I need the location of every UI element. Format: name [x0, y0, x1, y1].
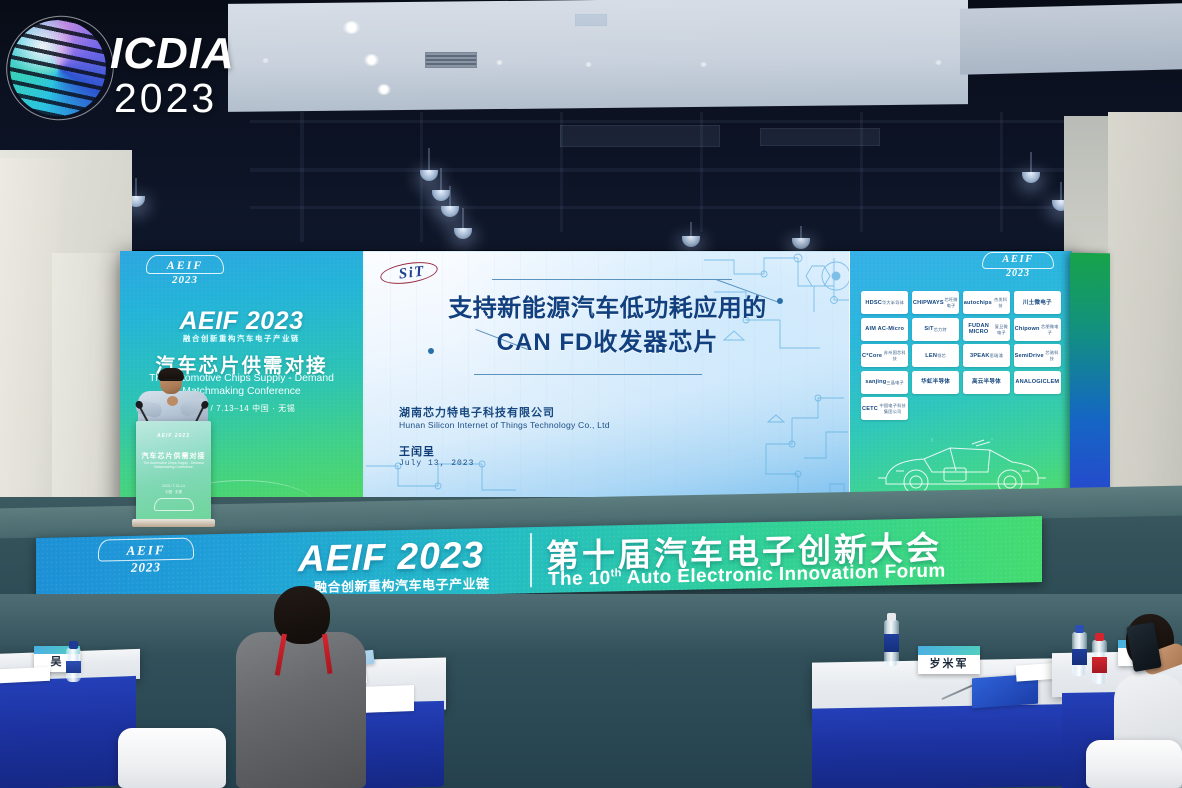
conference-photo-scene: AEIF 2023 AEIF 2023 融合创新重构汽车电子产业链 汽车芯片供需… — [0, 0, 1182, 788]
stage-side-panel — [1070, 253, 1110, 522]
circuit-trace-decor-2 — [748, 392, 850, 506]
slide-title-line2: CAN FD收发器芯片 — [364, 326, 850, 360]
sponsor-logo-name: ANALOGICLEM — [1015, 379, 1059, 385]
ceiling-panel — [560, 125, 720, 147]
pendant-light — [1030, 152, 1032, 174]
sponsor-logo-cell: 华虹半导体 — [912, 371, 959, 394]
aeif-logo-text: AEIF — [98, 543, 194, 558]
stage-led-screen: AEIF 2023 AEIF 2023 融合创新重构汽车电子产业链 汽车芯片供需… — [120, 251, 1072, 514]
paper-sheet — [0, 667, 50, 684]
sponsor-logo-name: 川土微电子 — [1023, 300, 1052, 306]
sponsor-logo-cell: FUDAN MICRO复旦微电子 — [963, 318, 1010, 341]
sponsor-logo-name: 3PEAK — [970, 353, 990, 359]
sponsor-logo-subtitle: 芯朋微电子 — [1040, 324, 1060, 336]
sponsor-logo-cell: C*Core苏州国芯科技 — [861, 344, 908, 367]
ceiling-soffit-right — [960, 3, 1182, 74]
sponsor-logo-cell: 3PEAK思瑞浦 — [963, 344, 1010, 367]
downlight — [496, 60, 503, 65]
sponsor-logo-cell: 川土微电子 — [1014, 291, 1061, 314]
bottle-cap — [1075, 625, 1084, 633]
sponsor-logo-name: AIM AC-Micro — [865, 326, 904, 332]
sponsor-logo-subtitle: 思瑞浦 — [990, 353, 1003, 359]
chair-center — [118, 728, 226, 788]
slide-decor-line-bottom — [474, 374, 702, 375]
sponsor-logo-grid: HDSC华大半导体CHIPWAYS芯旺微电子autochips杰发科技川土微电子… — [861, 291, 1061, 420]
sponsor-logo-panel: AEIF 2023 HDSC华大半导体CHIPWAYS芯旺微电子autochip… — [850, 251, 1072, 514]
sponsor-logo-name: CHIPWAYS — [913, 300, 944, 306]
sponsor-logo-cell: SemiDrive芯驰科技 — [1014, 344, 1061, 367]
sponsor-logo-name: autochips — [964, 300, 992, 306]
sponsor-logo-subtitle: 华大半导体 — [882, 300, 904, 306]
slide-company-en: Hunan Silicon Internet of Things Technol… — [399, 420, 610, 430]
car-outline-icon — [154, 498, 194, 511]
bottle-cap — [69, 641, 78, 649]
downlight — [585, 62, 592, 67]
sponsor-logo-subtitle: 领芯 — [937, 353, 946, 359]
ceiling-beam — [1000, 112, 1003, 232]
attendee-center — [236, 586, 366, 788]
sponsor-logo-subtitle: 芯旺微电子 — [944, 297, 958, 309]
globe-ring-icon — [0, 2, 127, 134]
pendant-light — [690, 222, 692, 238]
en-prefix: The 10 — [548, 568, 611, 590]
banner-divider — [530, 533, 532, 587]
aeif-logo-text: AEIF — [146, 259, 224, 271]
aeif-logo-left: AEIF 2023 — [146, 259, 224, 286]
pendant-light — [135, 178, 137, 198]
sponsor-logo-cell: CHIPWAYS芯旺微电子 — [912, 291, 959, 314]
floor-reflection — [0, 594, 1182, 654]
sponsor-logo-cell: 高云半导体 — [963, 371, 1010, 394]
table-skirt-left — [0, 676, 136, 788]
sponsor-logo-subtitle: 苏州国芯科技 — [882, 350, 907, 362]
paper-sheet — [360, 685, 414, 713]
icdia-watermark-year: 2023 — [114, 76, 217, 120]
sponsor-logo-subtitle: 芯力特 — [934, 327, 947, 333]
pendant-light — [449, 186, 451, 208]
sponsor-logo-name: Chipown — [1015, 326, 1040, 332]
pendant-light — [1060, 182, 1062, 202]
podium: AEIF 2023 汽车芯片供需对接 The Automotive Chips … — [136, 421, 211, 521]
sponsor-logo-cell: CETC中国电子科技集团公司 — [861, 397, 908, 420]
speaker-hand — [167, 396, 178, 406]
podium-title-cn: 汽车芯片供需对接 — [136, 451, 211, 461]
podium-base — [132, 519, 215, 527]
pendant-light — [462, 208, 464, 230]
downlight — [343, 21, 360, 34]
sponsor-logo-name: sanjing — [865, 379, 886, 385]
pendant-light — [440, 168, 442, 192]
sit-company-logo: SiT — [378, 258, 442, 286]
slide-company-cn: 湖南芯力特电子科技有限公司 — [399, 404, 555, 420]
air-vent — [425, 52, 477, 68]
downlight — [377, 84, 391, 95]
aeif-logo-stage: AEIF 2023 — [98, 543, 194, 577]
aeif-logo-text: AEIF — [982, 255, 1054, 266]
icdia-watermark: ICDIA 2023 — [6, 6, 241, 138]
pendant-light — [428, 148, 430, 172]
chair-right — [1086, 740, 1182, 788]
ceiling-plate — [575, 14, 607, 26]
stage-banner-title: AEIF 2023 — [298, 535, 484, 579]
speaker-presenter — [134, 370, 212, 428]
slide-presenter-name: 王闰呈 — [399, 443, 435, 459]
attendee-body — [236, 632, 366, 788]
water-bottle — [884, 620, 899, 666]
sponsor-logo-name: C*Core — [862, 353, 882, 359]
ceiling-beam — [300, 112, 304, 242]
podium-title-en: The Automotive Chips Supply - Demand Mat… — [136, 461, 211, 469]
sponsor-logo-name: 华虹半导体 — [921, 379, 950, 385]
bottle-cap — [887, 613, 896, 621]
sponsor-logo-cell: Chipown芯朋微电子 — [1014, 318, 1061, 341]
bottle-label — [1072, 649, 1087, 665]
sponsor-logo-name: SemiDrive — [1015, 353, 1044, 359]
podium-location: 中国 · 无锡 — [136, 489, 211, 495]
slide-title-line1: 支持新能源汽车低功耗应用的 — [364, 292, 850, 326]
icdia-watermark-name: ICDIA — [110, 32, 235, 76]
bottle-label — [66, 661, 81, 673]
name-card: 岁米军 — [918, 646, 980, 674]
sponsor-logo-name: CETC — [862, 406, 878, 412]
slide-title: 支持新能源汽车低功耗应用的 CAN FD收发器芯片 — [364, 292, 850, 360]
aeif-logo-right: AEIF 2023 — [982, 255, 1054, 279]
glasses-icon — [162, 379, 180, 383]
downlight — [935, 60, 942, 65]
sponsor-logo-name: HDSC — [865, 300, 882, 306]
sponsor-logo-subtitle: 芯驰科技 — [1044, 350, 1060, 362]
water-bottle — [1072, 632, 1087, 676]
bottle-label — [884, 634, 899, 652]
downlight — [364, 54, 379, 66]
left-banner-title: AEIF 2023 — [120, 307, 363, 336]
sponsor-logo-name: LEN — [925, 353, 937, 359]
sponsor-logo-name: SiT — [924, 326, 933, 332]
pendant-light — [800, 226, 802, 240]
podium-date-location: 2023 / 7.13–14 中国 · 无锡 — [136, 483, 211, 495]
aeif-logo-year: 2023 — [982, 268, 1054, 279]
downlight — [700, 62, 707, 67]
sponsor-logo-cell: ANALOGICLEM — [1014, 371, 1061, 394]
downlight — [262, 58, 269, 63]
sponsor-logo-name: 高云半导体 — [972, 379, 1001, 385]
sponsor-logo-subtitle: 复旦微电子 — [994, 324, 1010, 336]
sponsor-logo-subtitle: 三晶电子 — [886, 380, 904, 386]
water-bottle — [66, 648, 81, 682]
sponsor-logo-cell: SiT芯力特 — [912, 318, 959, 341]
sponsor-logo-subtitle: 中国电子科技集团公司 — [878, 403, 907, 415]
slide-date: July 13, 2023 — [399, 459, 474, 468]
podium-logo: AEIF 2023 — [136, 433, 211, 439]
left-banner-subtitle: 融合创新重构汽车电子产业链 — [120, 333, 363, 344]
en-ordinal: th — [611, 567, 622, 579]
bottle-cap — [1095, 633, 1104, 641]
sponsor-logo-cell: HDSC华大半导体 — [861, 291, 908, 314]
sponsor-logo-name: FUDAN MICRO — [964, 323, 994, 335]
sponsor-logo-subtitle: 杰发科技 — [992, 297, 1009, 309]
sponsor-logo-cell: AIM AC-Micro — [861, 318, 908, 341]
sponsor-logo-cell: sanjing三晶电子 — [861, 371, 908, 394]
sponsor-logo-cell: LEN领芯 — [912, 344, 959, 367]
presentation-slide: SiT — [363, 251, 850, 506]
podium-front-panel: AEIF 2023 汽车芯片供需对接 The Automotive Chips … — [136, 421, 211, 521]
sponsor-logo-cell: autochips杰发科技 — [963, 291, 1010, 314]
aeif-logo-year: 2023 — [146, 274, 224, 286]
ceiling-panel — [760, 128, 880, 146]
